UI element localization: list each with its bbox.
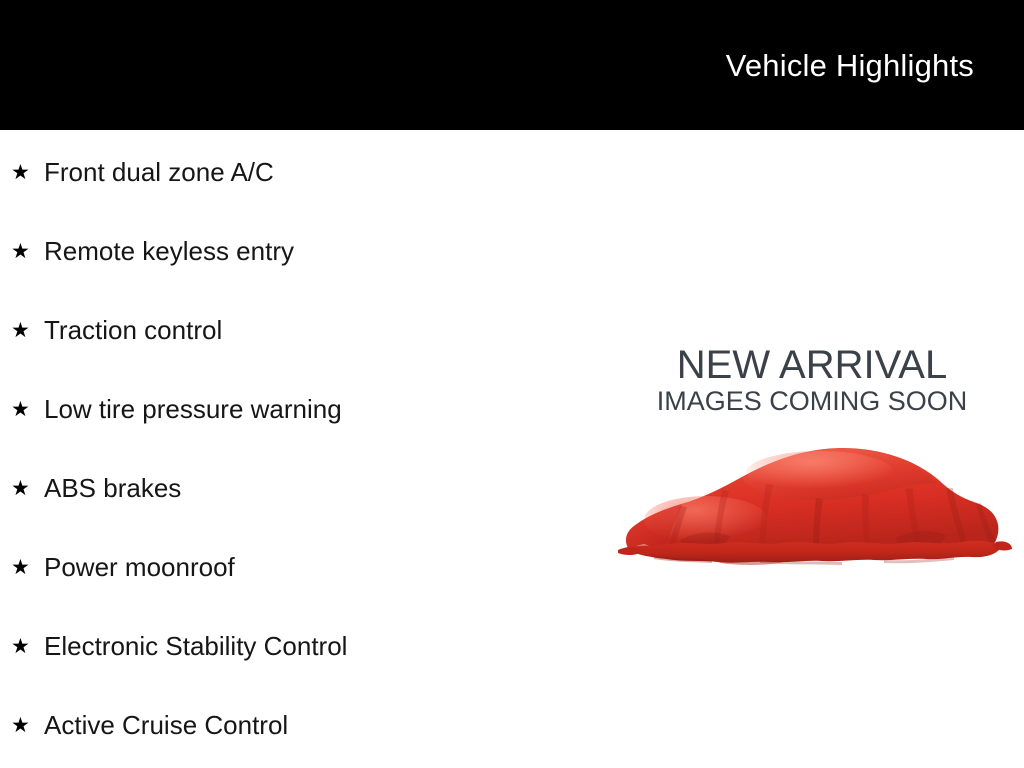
star-bullet-icon: ★ [11, 557, 33, 578]
list-item-label: Traction control [44, 315, 222, 345]
list-item: ★ Remote keyless entry [11, 234, 294, 268]
list-item-label: Power moonroof [44, 552, 235, 582]
list-item-label: ABS brakes [44, 473, 181, 503]
covered-car-icon [610, 428, 1014, 568]
list-item: ★ Power moonroof [11, 550, 235, 584]
list-item-label: Electronic Stability Control [44, 631, 347, 661]
star-bullet-icon: ★ [11, 478, 33, 499]
placeholder-text-group: NEW ARRIVAL IMAGES COMING SOON [600, 345, 1024, 416]
list-item: ★ Electronic Stability Control [11, 629, 347, 663]
list-item-label: Remote keyless entry [44, 236, 294, 266]
list-item: ★ Low tire pressure warning [11, 392, 342, 426]
list-item: ★ Front dual zone A/C [11, 155, 274, 189]
list-item: ★ ABS brakes [11, 471, 181, 505]
star-bullet-icon: ★ [11, 320, 33, 341]
vehicle-highlights-list: ★ Front dual zone A/C ★ Remote keyless e… [0, 130, 600, 768]
star-bullet-icon: ★ [11, 241, 33, 262]
star-bullet-icon: ★ [11, 715, 33, 736]
list-item: ★ Traction control [11, 313, 222, 347]
new-arrival-headline: NEW ARRIVAL [600, 345, 1024, 385]
page-title: Vehicle Highlights [726, 48, 974, 84]
header-bar: Vehicle Highlights [0, 0, 1024, 130]
list-item: ★ Active Cruise Control [11, 708, 288, 742]
list-item-label: Front dual zone A/C [44, 157, 274, 187]
list-item-label: Low tire pressure warning [44, 394, 342, 424]
vehicle-image-placeholder: NEW ARRIVAL IMAGES COMING SOON [600, 130, 1024, 768]
star-bullet-icon: ★ [11, 399, 33, 420]
list-item-label: Active Cruise Control [44, 710, 288, 740]
star-bullet-icon: ★ [11, 162, 33, 183]
images-coming-soon-subline: IMAGES COMING SOON [600, 386, 1024, 416]
star-bullet-icon: ★ [11, 636, 33, 657]
